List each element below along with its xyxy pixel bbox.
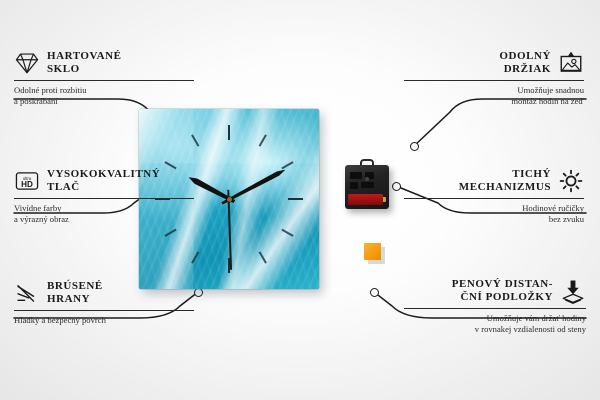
feature-title-line2: ČNÍ PODLOŽKY (452, 291, 553, 304)
layers-arrow-icon (560, 278, 586, 304)
mechanism-shaft (365, 177, 369, 181)
feature-foam-spacers: PENOVÝ DISTAN- ČNÍ PODLOŽKY Umožňuje vám… (404, 278, 586, 334)
infographic-stage: HARTOVANÉ SKLO Odolné proti rozbitiu a p… (0, 0, 600, 400)
feature-desc-line2: bez zvuku (404, 214, 584, 225)
diamond-icon (14, 50, 40, 76)
feature-title-line1: HARTOVANÉ (47, 50, 121, 63)
feature-desc-line2: montáž hodin na zeď (404, 96, 584, 107)
feature-hd-print: ultra HD VYSOKOKVALITNÝ TLAČ Vivídne far… (14, 168, 194, 224)
clock-center-pin (227, 197, 232, 202)
feature-title-line1: BRÚSENÉ (47, 280, 103, 293)
node-silent-mechanism (392, 182, 401, 191)
feature-title-line1: TICHÝ (459, 168, 551, 181)
foam-pad-square (364, 243, 381, 260)
ground-edges-icon (14, 280, 40, 306)
feature-ground-edges: BRÚSENÉ HRANY Hladký a bezpečný povrch (14, 280, 194, 326)
feature-divider (404, 198, 584, 199)
mechanism-battery (348, 194, 383, 205)
feature-desc-line1: Hodinové ručičky (404, 203, 584, 214)
ultra-hd-big-label: HD (21, 180, 33, 189)
product-clock-mechanism (345, 165, 389, 209)
feature-desc-line2: a výrazný obraz (14, 214, 194, 225)
feature-title-line2: HRANY (47, 293, 103, 306)
feature-divider (14, 80, 194, 81)
feature-tempered-glass: HARTOVANÉ SKLO Odolné proti rozbitiu a p… (14, 50, 194, 106)
feature-title-line1: VYSOKOKVALITNÝ (47, 168, 160, 181)
feature-desc-line1: Odolné proti rozbitiu (14, 85, 194, 96)
feature-title-line1: PENOVÝ DISTAN- (452, 278, 553, 291)
feature-divider (14, 198, 194, 199)
ultra-hd-icon: ultra HD (14, 168, 40, 194)
feature-desc-line1: Umožňuje vám držať hodiny (404, 313, 586, 324)
feature-title-line2: DRŽIAK (499, 63, 551, 76)
picture-frame-icon (558, 50, 584, 76)
feature-desc-line1: Umožňuje snadnou (404, 85, 584, 96)
feature-title-line2: TLAČ (47, 181, 160, 194)
feature-divider (404, 80, 584, 81)
gear-icon (558, 168, 584, 194)
feature-divider (14, 310, 194, 311)
product-foam-pad (364, 243, 381, 260)
feature-durable-holder: ODOLNÝ DRŽIAK Umožňuje snadnou montáž ho… (404, 50, 584, 106)
feature-desc-line1: Vivídne farby (14, 203, 194, 214)
feature-desc-line1: Hladký a bezpečný povrch (14, 315, 194, 326)
mechanism-body (345, 165, 389, 209)
feature-divider (404, 308, 586, 309)
feature-title-line2: SKLO (47, 63, 121, 76)
feature-title-line2: MECHANIZMUS (459, 181, 551, 194)
feature-title-line1: ODOLNÝ (499, 50, 551, 63)
feature-desc-line2: a poškrábání (14, 96, 194, 107)
node-foam-spacers (370, 288, 379, 297)
feature-silent-mechanism: TICHÝ MECHANIZMUS Hodinové ručičky bez z… (404, 168, 584, 224)
node-durable-holder (410, 142, 419, 151)
feature-desc-line2: v rovnakej vzdialenosti od steny (404, 324, 586, 335)
